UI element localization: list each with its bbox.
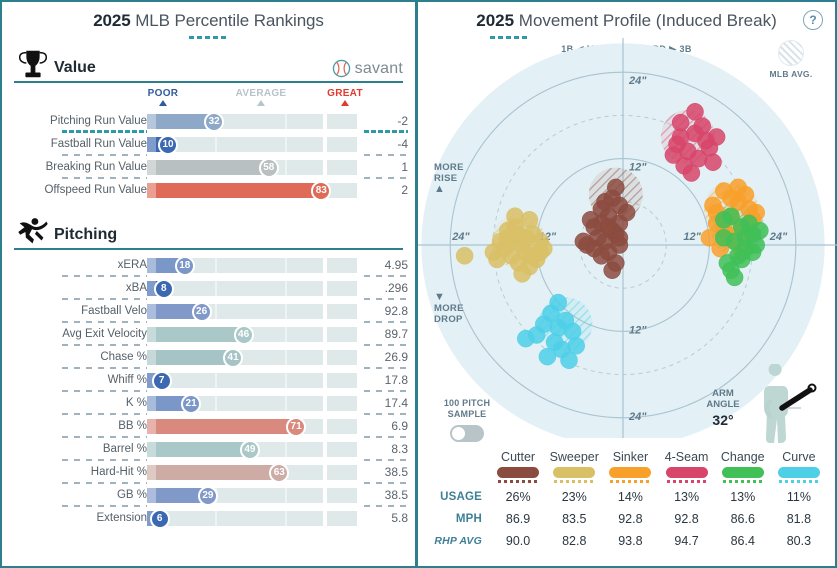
scale-label-average: AVERAGE [236, 88, 287, 99]
metric-row[interactable]: Avg Exit Velocity4689.7 [2, 323, 415, 346]
percentile-bubble: 26 [192, 302, 212, 322]
pitch-dotted-underline [667, 480, 707, 483]
percentile-fill-cap [147, 258, 156, 273]
metric-row[interactable]: xERA184.95 [2, 254, 415, 277]
percentile-track: 21 [147, 396, 357, 411]
pitch-data-point [618, 204, 635, 221]
pitch-data-point [687, 103, 704, 120]
metric-label: K % [2, 392, 147, 415]
percentile-track: 41 [147, 350, 357, 365]
percentile-fill-cap [147, 419, 156, 434]
percentile-track: 63 [147, 465, 357, 480]
movement-profile-panel: 2025 Movement Profile (Induced Break) ? … [417, 0, 837, 568]
pitch-data-point [564, 323, 581, 340]
percentile-bubble: 29 [198, 486, 218, 506]
percentile-bubble: 32 [204, 112, 224, 132]
pitch-sample-toggle-block: 100 PITCHSAMPLE [432, 398, 502, 442]
metric-row[interactable]: xBA8.296 [2, 277, 415, 300]
section-label-pitching: Pitching [54, 226, 117, 248]
metric-label: xERA [2, 254, 147, 277]
percentile-track: 18 [147, 258, 357, 273]
pitch-color-swatch[interactable] [553, 467, 595, 478]
pitch-table-cell: 14% [602, 486, 658, 508]
percentile-scale-legend: POOR AVERAGE GREAT [2, 88, 415, 110]
metric-value: 89.7 [362, 323, 408, 346]
percentile-track: 29 [147, 488, 357, 503]
ring-label: 12" [683, 231, 701, 243]
metric-row[interactable]: K %2117.4 [2, 392, 415, 415]
pitch-dotted-underline [554, 480, 594, 483]
pitch-data-point [672, 129, 689, 146]
pitch-color-swatch-cell [771, 467, 827, 480]
percentile-fill-cap [147, 114, 156, 129]
pitch-data-point [607, 179, 624, 196]
metric-label: Extension [2, 507, 147, 530]
pitch-table-cell: 13% [715, 486, 771, 508]
percentile-fill-cap [147, 442, 156, 457]
metric-value: 92.8 [362, 300, 408, 323]
pitch-table-cell: 81.8 [771, 508, 827, 530]
percentile-track: 7 [147, 373, 357, 388]
toggle-knob [452, 427, 465, 440]
pitch-data-point [575, 233, 592, 250]
metric-value: 17.4 [362, 392, 408, 415]
percentile-fill-cap [147, 350, 156, 365]
pitch-data-point [723, 190, 740, 207]
metric-row[interactable]: Extension65.8 [2, 507, 415, 530]
more-drop-label: ▼MOREDROP [434, 292, 464, 325]
pitching-metrics-list: xERA184.95xBA8.296Fastball Velo2692.8Avg… [2, 254, 415, 530]
ring-label: 12" [629, 162, 647, 174]
pitch-table-cell: 93.8 [602, 530, 658, 552]
pitch-dotted-underline [610, 480, 650, 483]
pitch-name-header[interactable]: Sinker [602, 450, 658, 467]
metric-row[interactable]: Fastball Run Value10-4 [2, 133, 415, 156]
pitch-data-point [604, 262, 621, 279]
metric-label: Fastball Velo [2, 300, 147, 323]
pitch-table-row-label: RHP AVG [428, 530, 490, 552]
value-metrics-list: Pitching Run Value32-2Fastball Run Value… [2, 110, 415, 202]
page-title: 2025 MLB Percentile Rankings [2, 2, 415, 31]
pitch-name-header[interactable]: Sweeper [546, 450, 602, 467]
percentile-bubble: 10 [158, 135, 178, 155]
percentile-fill-cap [147, 488, 156, 503]
pitch-data-point [597, 193, 614, 210]
savant-player-card: 2025 MLB Percentile Rankings Value savan… [0, 0, 837, 568]
pitch-data-point [744, 244, 761, 261]
pitch-table-cell: 86.6 [715, 508, 771, 530]
trophy-icon [14, 47, 52, 81]
pitch-data-point [539, 348, 556, 365]
metric-row[interactable]: Chase %4126.9 [2, 346, 415, 369]
metric-label: Fastball Run Value [2, 133, 147, 156]
metric-label: xBA [2, 277, 147, 300]
percentile-fill [147, 160, 269, 175]
percentile-bubble: 21 [181, 394, 201, 414]
title-underline-dots [189, 36, 229, 39]
percentile-track: 58 [147, 160, 357, 175]
percentile-fill [147, 419, 296, 434]
percentile-bubble: 41 [223, 348, 243, 368]
pitch-data-point [517, 330, 534, 347]
metric-row[interactable]: Breaking Run Value581 [2, 156, 415, 179]
percentile-fill-cap [147, 160, 156, 175]
percentile-fill [147, 350, 233, 365]
percentile-fill-cap [147, 396, 156, 411]
percentile-track: 83 [147, 183, 357, 198]
pitch-table-cell: 86.4 [715, 530, 771, 552]
movement-title: 2025 Movement Profile (Induced Break) [418, 2, 835, 31]
help-icon[interactable]: ? [803, 10, 823, 30]
pitch-data-point [683, 165, 700, 182]
percentile-bubble: 83 [311, 181, 331, 201]
percentile-rankings-panel: 2025 MLB Percentile Rankings Value savan… [0, 0, 417, 568]
pitch-color-swatch-cell [715, 467, 771, 480]
metric-row[interactable]: Whiff %717.8 [2, 369, 415, 392]
pitch-color-swatch[interactable] [666, 467, 708, 478]
percentile-bubble: 7 [152, 371, 172, 391]
pitch-data-point [708, 129, 725, 146]
metric-label: Barrel % [2, 438, 147, 461]
metric-row[interactable]: Hard-Hit %6338.5 [2, 461, 415, 484]
metric-row[interactable]: Fastball Velo2692.8 [2, 300, 415, 323]
pitch-name-header[interactable]: Change [715, 450, 771, 467]
pitch-dotted-underline [779, 480, 819, 483]
scale-label-great: GREAT [327, 88, 363, 99]
pitch-color-swatch-cell [546, 467, 602, 480]
more-rise-label: MORERISE▲ [434, 162, 464, 195]
pitch-name-header[interactable]: 4-Seam [659, 450, 715, 467]
percentile-fill [147, 465, 279, 480]
pitch-color-swatch-cell [490, 467, 546, 480]
metric-value: .296 [362, 277, 408, 300]
arm-angle-value: 32° [697, 412, 749, 428]
scale-label-poor: POOR [148, 88, 179, 99]
metric-row[interactable]: GB %2938.5 [2, 484, 415, 507]
metric-value: 1 [362, 156, 408, 179]
ring-label: 12" [629, 324, 647, 336]
percentile-bubble: 58 [259, 158, 279, 178]
pitch-data-point [489, 251, 506, 268]
pitch-data-point [561, 352, 578, 369]
ring-label: 24" [628, 411, 647, 423]
metric-value: 6.9 [362, 415, 408, 438]
percentile-bubble: 71 [286, 417, 306, 437]
pitch-data-point [514, 265, 531, 282]
movement-title-text: Movement Profile (Induced Break) [514, 11, 777, 30]
percentile-fill-cap [147, 183, 156, 198]
metric-value: -4 [362, 133, 408, 156]
metric-label: Breaking Run Value [2, 156, 147, 179]
percentile-track: 49 [147, 442, 357, 457]
pitch-table-mph-row: MPH86.983.592.892.886.681.8 [428, 508, 827, 530]
pitch-data-point [550, 319, 567, 336]
percentile-bubble: 49 [240, 440, 260, 460]
metric-label: Avg Exit Velocity [2, 323, 147, 346]
percentile-bubble: 8 [154, 279, 174, 299]
pitch-table-swatch-row [428, 467, 827, 480]
metric-row[interactable]: Pitching Run Value32-2 [2, 110, 415, 133]
pitch-table-row-label: MPH [428, 508, 490, 530]
metric-value: 17.8 [362, 369, 408, 392]
metric-value: 4.95 [362, 254, 408, 277]
pitch-color-swatch[interactable] [609, 467, 651, 478]
percentile-track: 71 [147, 419, 357, 434]
metric-label: Chase % [2, 346, 147, 369]
percentile-bubble: 63 [269, 463, 289, 483]
percentile-fill [147, 327, 244, 342]
metric-value: 5.8 [362, 507, 408, 530]
arm-angle-label: ARMANGLE [697, 388, 749, 410]
percentile-fill-cap [147, 304, 156, 319]
section-header-pitching: Pitching [14, 216, 403, 250]
metric-label: Whiff % [2, 369, 147, 392]
pitch-data-point [510, 226, 527, 243]
pitch-table-cell: 82.8 [546, 530, 602, 552]
pitch-table-cell: 90.0 [490, 530, 546, 552]
pitch-table-rhpavg-row: RHP AVG90.082.893.894.786.480.3 [428, 530, 827, 552]
pitch-data-point [726, 269, 743, 286]
pitch-data-point [715, 229, 732, 246]
savant-wordmark: savant [355, 60, 403, 78]
metric-label: GB % [2, 484, 147, 507]
metric-label: Hard-Hit % [2, 461, 147, 484]
pitch-data-point [532, 244, 549, 261]
percentile-track: 6 [147, 511, 357, 526]
pitch-type-table: CutterSweeperSinker4-SeamChangeCurve USA… [428, 450, 827, 552]
scale-marker-great [341, 100, 349, 106]
section-header-value: Value savant [14, 49, 403, 83]
metric-row[interactable]: Barrel %498.3 [2, 438, 415, 461]
pitcher-icon [14, 214, 52, 248]
pitch-color-swatch[interactable] [778, 467, 820, 478]
percentile-fill [147, 183, 321, 198]
ring-label: 24" [769, 231, 788, 243]
metric-value: 8.3 [362, 438, 408, 461]
metric-label: BB % [2, 415, 147, 438]
pitch-table-cell: 83.5 [546, 508, 602, 530]
percentile-fill [147, 442, 250, 457]
pitch-table-cell: 26% [490, 486, 546, 508]
percentile-track: 46 [147, 327, 357, 342]
pitch-table-cell: 80.3 [771, 530, 827, 552]
metric-value: 38.5 [362, 461, 408, 484]
savant-logo: savant [332, 59, 403, 81]
pitch-dotted-underline [723, 480, 763, 483]
pitch-name-header[interactable]: Curve [771, 450, 827, 467]
pitch-table-cell: 92.8 [602, 508, 658, 530]
pitch-table-cell: 86.9 [490, 508, 546, 530]
pitch-data-point [705, 154, 722, 171]
pitch-table-usage-row: USAGE26%23%14%13%13%11% [428, 486, 827, 508]
metric-value: 26.9 [362, 346, 408, 369]
baseball-icon [332, 59, 351, 78]
percentile-fill-cap [147, 137, 156, 152]
metric-value: 2 [362, 179, 408, 202]
pitch-data-point [600, 219, 617, 236]
percentile-bubble: 6 [150, 509, 170, 529]
pitch-color-swatch[interactable] [497, 467, 539, 478]
pitch-color-swatch-cell [659, 467, 715, 480]
pitch-sample-toggle[interactable] [450, 425, 484, 442]
metric-value: 38.5 [362, 484, 408, 507]
percentile-bubble: 18 [175, 256, 195, 276]
pitch-data-point [715, 211, 732, 228]
movement-title-year: 2025 [476, 11, 514, 30]
table-spacer [428, 467, 490, 480]
pitch-table-cell: 92.8 [659, 508, 715, 530]
pitch-table-cell: 23% [546, 486, 602, 508]
pitch-table-cell: 13% [659, 486, 715, 508]
percentile-bubble: 46 [234, 325, 254, 345]
arm-angle-block: ARMANGLE 32° [697, 364, 817, 449]
title-text: MLB Percentile Rankings [131, 11, 324, 30]
metric-row[interactable]: Offspeed Run Value832 [2, 179, 415, 202]
percentile-fill-cap [147, 465, 156, 480]
pitch-sample-label: 100 PITCHSAMPLE [432, 398, 502, 420]
pitch-table-cell: 94.7 [659, 530, 715, 552]
title-year: 2025 [93, 11, 130, 30]
pitch-color-swatch[interactable] [722, 467, 764, 478]
metric-row[interactable]: BB %716.9 [2, 415, 415, 438]
scale-marker-average [257, 100, 265, 106]
ring-label: 24" [628, 75, 647, 87]
section-label-value: Value [54, 59, 96, 81]
pitch-data-point [456, 247, 473, 264]
percentile-track: 26 [147, 304, 357, 319]
pitcher-silhouette-icon [749, 364, 819, 449]
scale-marker-poor [159, 100, 167, 106]
pitch-data-point [665, 147, 682, 164]
ring-label: 24" [451, 231, 470, 243]
pitch-table-header-row: CutterSweeperSinker4-SeamChangeCurve [428, 450, 827, 467]
pitch-table-cell: 11% [771, 486, 827, 508]
percentile-fill-cap [147, 327, 156, 342]
pitch-color-swatch-cell [602, 467, 658, 480]
table-spacer [428, 450, 490, 467]
percentile-track: 10 [147, 137, 357, 152]
percentile-track: 32 [147, 114, 357, 129]
metric-label: Offspeed Run Value [2, 179, 147, 202]
percentile-track: 8 [147, 281, 357, 296]
pitch-name-header[interactable]: Cutter [490, 450, 546, 467]
pitch-dotted-underline [498, 480, 538, 483]
pitch-table-row-label: USAGE [428, 486, 490, 508]
